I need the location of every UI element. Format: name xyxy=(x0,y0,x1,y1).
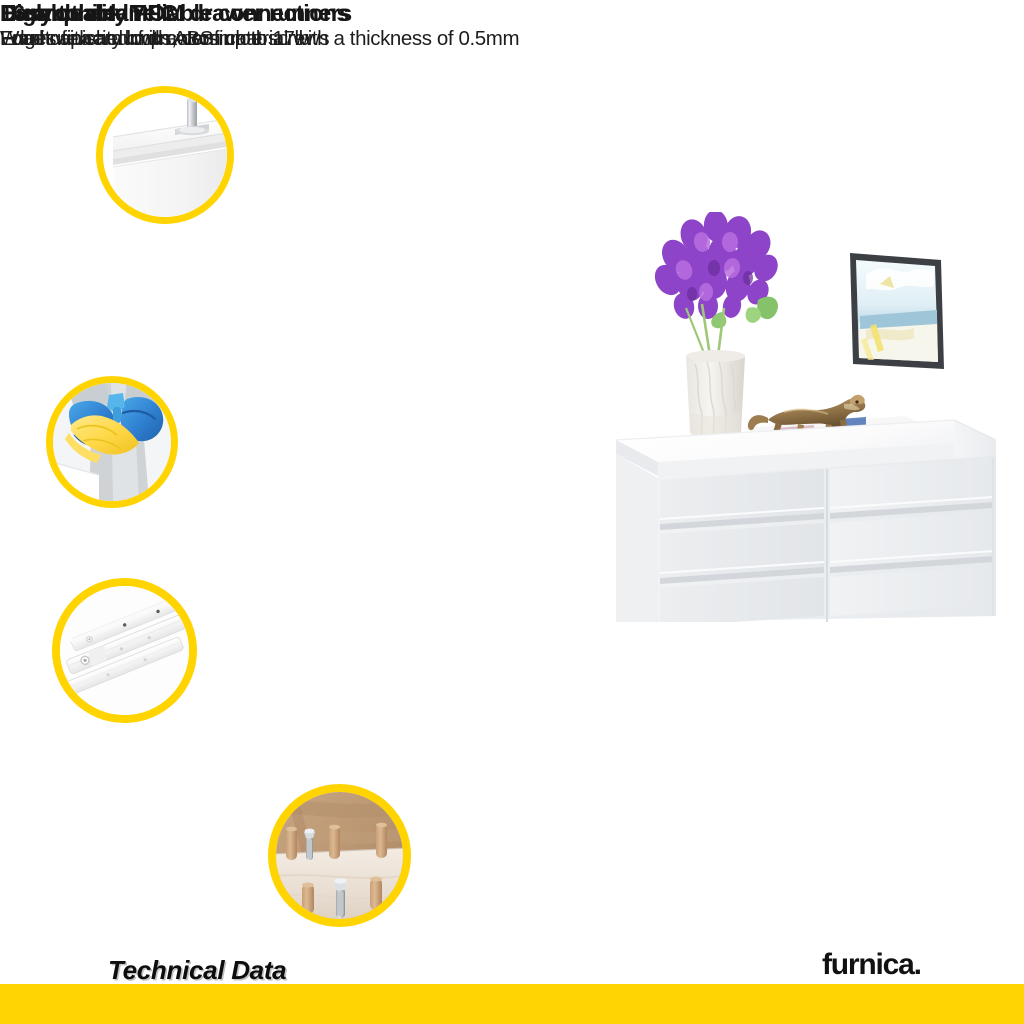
dowels-cam-locks-photo-inner xyxy=(276,792,403,919)
furniture-edge-photo-icon xyxy=(96,86,234,224)
framed-coastal-painting xyxy=(850,253,944,369)
cleaning-gloves-art xyxy=(53,383,171,501)
furniture-edge-photo-inner xyxy=(103,93,227,217)
drawer-runners-photo-inner xyxy=(60,586,189,715)
drawer-runners-art xyxy=(60,586,189,715)
dowels-cam-locks-photo-icon xyxy=(268,784,411,927)
chest-body xyxy=(616,420,996,622)
footer-yellow-bar xyxy=(0,984,1024,1024)
drawer-runners-photo-icon xyxy=(52,578,197,723)
product-image-white-6-drawer-chest xyxy=(598,212,1008,622)
cleaning-gloves-photo-inner xyxy=(53,383,171,501)
cleaning-gloves-photo-icon xyxy=(46,376,178,508)
technical-data-infographic: 16mm thick MFC Edges finished with ABS m… xyxy=(0,0,1024,1024)
brand-logo-furnica: furnica. xyxy=(822,948,921,982)
feature-text-connections: Durable and reliable connections Furnitu… xyxy=(0,0,349,51)
footer-section-label: Technical Data xyxy=(108,955,286,986)
dowels-cam-locks-art xyxy=(276,792,403,919)
product-illustration xyxy=(598,212,1008,622)
feature-title-connections: Durable and reliable connections xyxy=(0,0,349,27)
feature-subtitle-connections: Furniture cam locks, confirmat screws xyxy=(0,27,349,51)
furniture-edge-art xyxy=(103,93,227,217)
